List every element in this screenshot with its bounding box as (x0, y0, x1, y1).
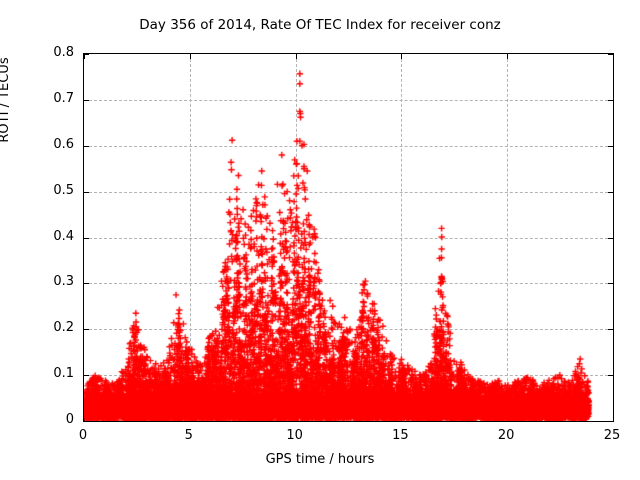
x-tick-mark (401, 54, 402, 59)
x-tick-mark (613, 416, 614, 421)
x-tick-mark (613, 54, 614, 59)
x-tick-label: 5 (159, 428, 219, 443)
y-tick-mark (608, 283, 613, 284)
x-tick-label: 15 (370, 428, 430, 443)
y-tick-mark (608, 146, 613, 147)
y-tick-mark (608, 375, 613, 376)
y-tick-mark (608, 238, 613, 239)
y-tick-label: 0.7 (4, 91, 74, 106)
y-tick-mark (84, 329, 89, 330)
x-tick-label: 10 (265, 428, 325, 443)
x-tick-label: 0 (53, 428, 113, 443)
x-tick-label: 20 (476, 428, 536, 443)
y-tick-mark (608, 329, 613, 330)
y-tick-label: 0.5 (4, 183, 74, 198)
y-tick-label: 0.1 (4, 366, 74, 381)
gridline-horizontal (84, 329, 613, 330)
gridline-horizontal (84, 146, 613, 147)
y-tick-label: 0.6 (4, 137, 74, 152)
chart-title: Day 356 of 2014, Rate Of TEC Index for r… (0, 17, 640, 33)
y-tick-mark (84, 421, 89, 422)
y-tick-mark (84, 238, 89, 239)
x-tick-mark (84, 416, 85, 421)
gridline-vertical (507, 54, 508, 421)
y-tick-mark (608, 100, 613, 101)
gridline-horizontal (84, 375, 613, 376)
y-tick-mark (84, 100, 89, 101)
gridline-horizontal (84, 100, 613, 101)
y-tick-label: 0 (4, 412, 74, 427)
y-tick-mark (84, 375, 89, 376)
y-tick-label: 0.2 (4, 320, 74, 335)
y-tick-mark (608, 192, 613, 193)
x-axis-title: GPS time / hours (0, 452, 640, 467)
gridline-horizontal (84, 283, 613, 284)
x-tick-mark (401, 416, 402, 421)
x-tick-label: 25 (582, 428, 640, 443)
x-tick-mark (190, 54, 191, 59)
y-tick-mark (84, 146, 89, 147)
chart-root: Day 356 of 2014, Rate Of TEC Index for r… (0, 0, 640, 480)
y-tick-mark (84, 283, 89, 284)
x-tick-mark (296, 416, 297, 421)
gridline-vertical (190, 54, 191, 421)
x-tick-mark (296, 54, 297, 59)
x-tick-mark (190, 416, 191, 421)
y-tick-label: 0.3 (4, 274, 74, 289)
gridline-vertical (401, 54, 402, 421)
x-tick-mark (507, 416, 508, 421)
gridline-vertical (296, 54, 297, 421)
x-tick-mark (507, 54, 508, 59)
y-tick-mark (608, 421, 613, 422)
gridline-horizontal (84, 192, 613, 193)
y-tick-label: 0.4 (4, 229, 74, 244)
y-tick-label: 0.8 (4, 45, 74, 60)
x-tick-mark (84, 54, 85, 59)
plot-area (83, 53, 614, 422)
y-tick-mark (84, 192, 89, 193)
gridline-horizontal (84, 238, 613, 239)
